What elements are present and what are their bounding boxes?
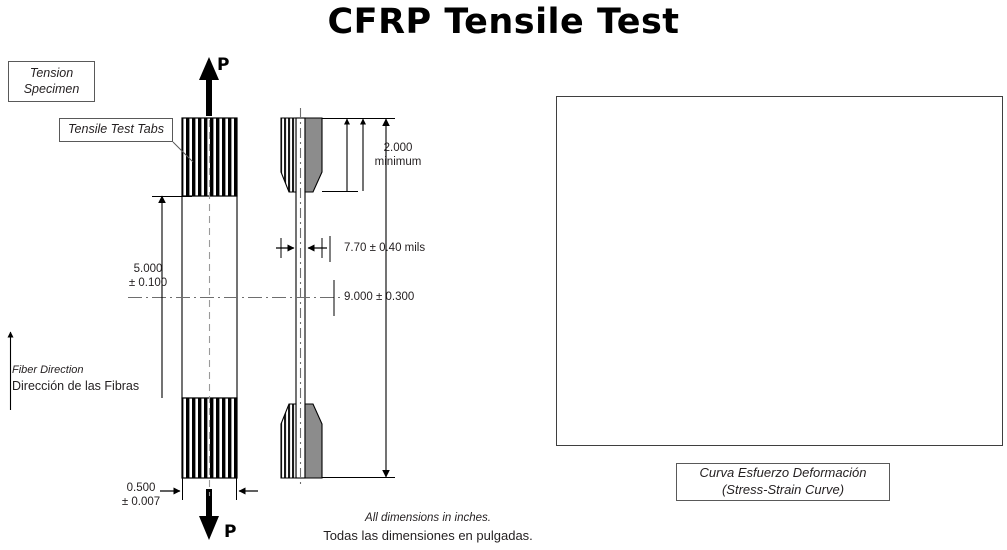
- drawing-canvas: CFRP Tensile Test: [0, 0, 1007, 550]
- width-tolerance: ± 0.007: [104, 495, 178, 509]
- dimension-label-width: 0.500 ± 0.007: [104, 481, 178, 510]
- stress-strain-caption: Curva Esfuerzo Deformación (Stress-Strai…: [676, 463, 890, 501]
- callout-tension-specimen: Tension Specimen: [8, 61, 95, 102]
- gage-length-tolerance: ± 0.100: [112, 276, 184, 290]
- gage-length-value: 5.000: [112, 262, 184, 276]
- dimension-label-overall-length: 9.000 ± 0.300: [344, 290, 414, 304]
- tab-top-side-left: [281, 118, 296, 192]
- units-note: All dimensions in inches. Todas las dime…: [268, 511, 588, 544]
- units-note-english: All dimensions in inches.: [268, 511, 588, 527]
- caption-spanish: Curva Esfuerzo Deformación: [700, 465, 867, 482]
- width-value: 0.500: [104, 481, 178, 495]
- units-note-spanish: Todas las dimensiones en pulgadas.: [268, 527, 588, 545]
- tab-bottom-side-left: [281, 404, 296, 478]
- dimension-label-tab-length: 2.000 minimum: [363, 141, 433, 170]
- load-arrow-top: [199, 57, 219, 116]
- tab-length-value: 2.000: [363, 141, 433, 155]
- tab-top-side-right: [305, 118, 322, 192]
- load-label-bottom: P: [224, 522, 236, 542]
- dimension-label-gage-length: 5.000 ± 0.100: [112, 262, 184, 291]
- callout-tension-line2: Specimen: [24, 82, 80, 98]
- callout-tensile-test-tabs: Tensile Test Tabs: [59, 118, 173, 142]
- tab-length-qualifier: minimum: [363, 155, 433, 169]
- stress-strain-plot-area: [556, 96, 1003, 446]
- fiber-direction-english: Fiber Direction: [12, 363, 162, 378]
- dimension-tab-length: [322, 119, 363, 192]
- tab-bottom-side-right: [305, 404, 322, 478]
- callout-tabs-label: Tensile Test Tabs: [68, 122, 164, 138]
- caption-english: (Stress-Strain Curve): [722, 482, 844, 499]
- front-view-specimen: [182, 57, 237, 540]
- dimension-label-thickness: 7.70 ± 0.40 mils: [344, 241, 425, 255]
- fiber-direction-spanish: Dirección de las Fibras: [12, 378, 162, 395]
- callout-tension-line1: Tension: [30, 66, 73, 82]
- load-label-top: P: [217, 55, 229, 75]
- fiber-direction-label: Fiber Direction Dirección de las Fibras: [12, 363, 162, 395]
- load-arrow-bottom: [199, 489, 219, 540]
